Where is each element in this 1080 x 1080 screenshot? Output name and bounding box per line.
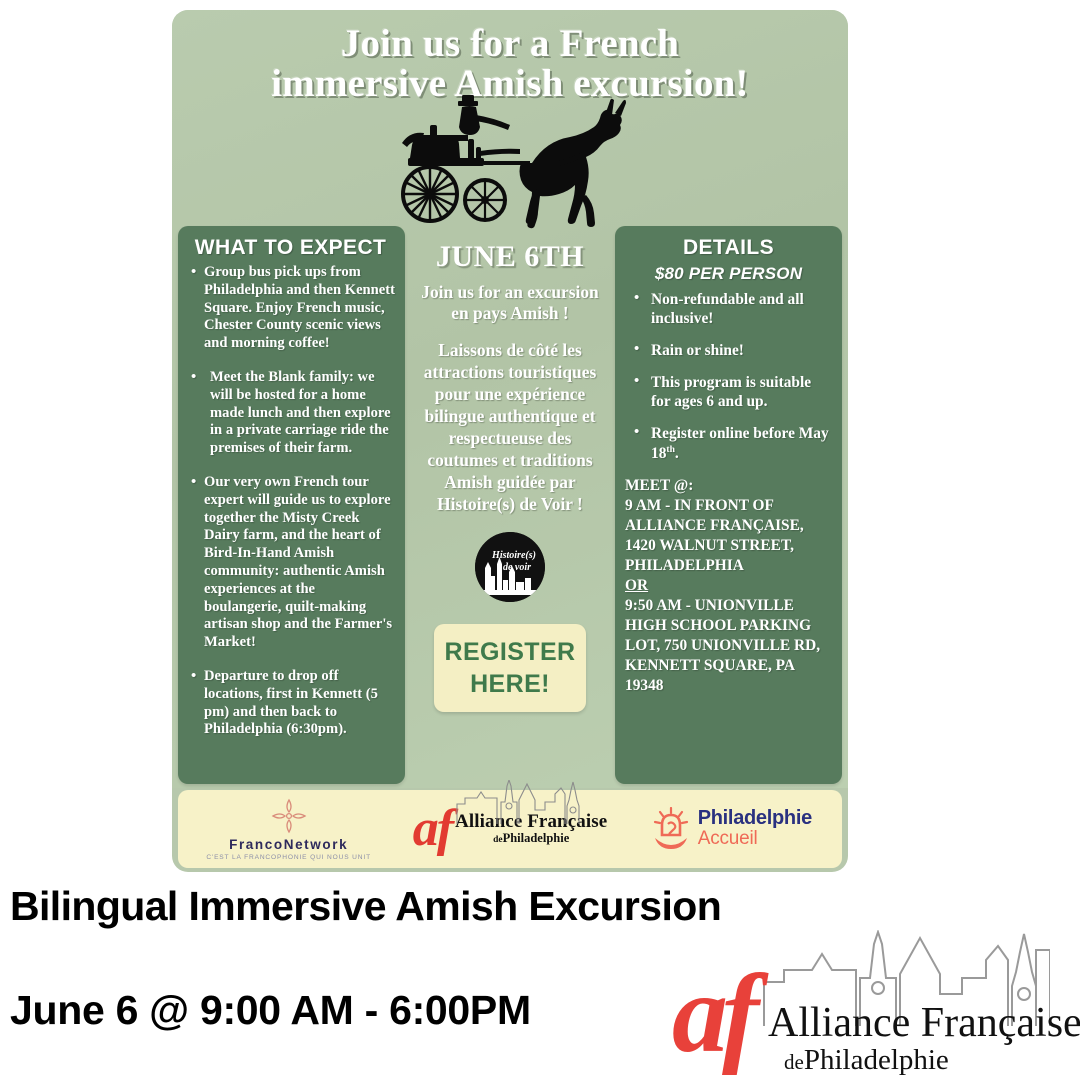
event-date: JUNE 6TH [412,240,608,274]
excursion-intro-fr: Laissons de côté les attractions tourist… [412,340,608,515]
list-item: Our very own French tour expert will gui… [204,474,395,652]
deadline-ordinal: th [666,444,674,455]
philadelphie-accueil-line1: Philadelphie [698,808,812,829]
what-to-expect-list: Group bus pick ups from Philadelphia and… [186,264,395,739]
register-button-line-1: REGISTER [445,636,576,668]
what-to-expect-title: WHAT TO EXPECT [186,236,395,260]
details-title: DETAILS [625,236,832,260]
price-label: $80 PER PERSON [625,264,832,284]
meet-option-b: 9:50 AM - UNIONVILLE HIGH SCHOOL PARKING… [625,596,832,696]
register-here-button[interactable]: REGISTER HERE! [434,624,586,712]
middle-column: JUNE 6TH Join us for an excursion en pay… [412,226,608,712]
list-item-register-deadline: Register online before May 18th. [651,424,832,462]
alliance-francaise-footer-logo: af Alliance Française dePhiladelphie [672,930,1072,1070]
af-subtitle: dePhiladelphie [455,831,607,847]
histoires-de-voir-logo: Histoire(s) de voir [475,532,545,602]
list-item: Group bus pick ups from Philadelphia and… [204,264,395,353]
what-to-expect-panel: WHAT TO EXPECT Group bus pick ups from P… [178,226,405,784]
deadline-period: . [675,445,679,462]
headline-line-1: Join us for a French [341,22,679,65]
partner-logo-band: FrancoNetwork C'EST LA FRANCOPHONIE QUI … [178,790,842,868]
af-title-large: Alliance Française [768,1002,1080,1044]
poster-headline: Join us for a French immersive Amish exc… [202,24,818,104]
af-monogram: af [413,808,452,851]
meet-option-a: 9 AM - IN FRONT OF ALLIANCE FRANÇAISE, 1… [625,496,832,576]
af-subtitle-large: dePhiladelphie [784,1046,949,1075]
logo-slot-philadelphie-accueil: Philadelphie Accueil [621,807,842,851]
horse-carriage-icon [372,95,672,230]
event-title: Bilingual Immersive Amish Excursion [10,886,870,927]
hdv-line1: Histoire(s) [491,550,536,561]
philadelphie-accueil-icon [651,807,691,851]
logo-slot-franconetwork: FrancoNetwork C'EST LA FRANCOPHONIE QUI … [178,798,399,861]
event-poster: Join us for a French immersive Amish exc… [172,10,848,872]
details-list: Non-refundable and all inclusive! Rain o… [625,290,832,463]
philadelphia-skyline-icon [455,780,583,824]
excursion-intro-en: Join us for an excursion en pays Amish ! [412,282,608,324]
franconetwork-name: FrancoNetwork [206,837,371,852]
register-button-line-2: HERE! [470,668,550,700]
meet-or: OR [625,576,832,596]
logo-slot-alliance-francaise: af Alliance Française dePhiladelphie [399,808,620,851]
franconetwork-flower-icon [269,798,309,834]
philadelphie-accueil-line2: Accueil [698,829,812,850]
list-item: Rain or shine! [651,341,832,360]
list-item: This program is suitable for ages 6 and … [651,373,832,411]
meeting-info: MEET @: 9 AM - IN FRONT OF ALLIANCE FRAN… [625,476,832,696]
details-panel: DETAILS $80 PER PERSON Non-refundable an… [615,226,842,784]
meet-label: MEET @: [625,476,832,496]
hdv-line2: de voir [503,562,531,573]
list-item: Meet the Blank family: we will be hosted… [204,369,395,458]
list-item: Departure to drop off locations, first i… [204,668,395,739]
franconetwork-tagline: C'EST LA FRANCOPHONIE QUI NOUS UNIT [206,854,371,861]
af-monogram-large: af [672,970,753,1060]
list-item: Non-refundable and all inclusive! [651,290,832,328]
